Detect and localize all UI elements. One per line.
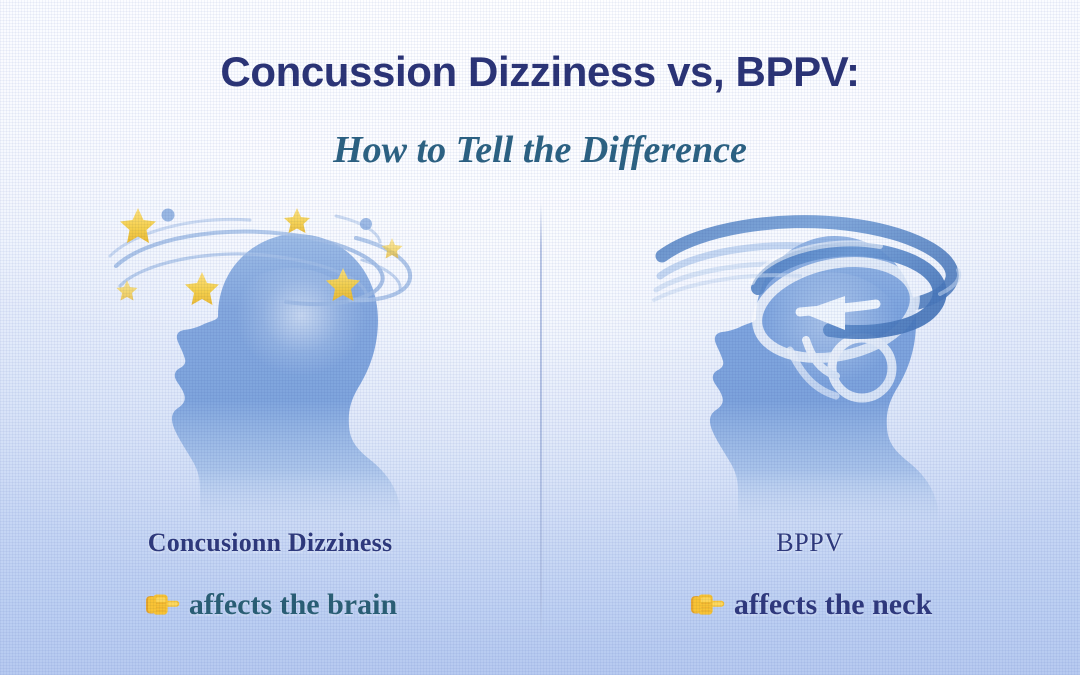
panel-left-callout: affects the brain — [0, 588, 540, 622]
panel-right-callout: affects the neck — [540, 588, 1080, 622]
head-silhouette-shape — [172, 234, 400, 520]
pointing-right-hand-icon — [143, 590, 181, 620]
panel-bppv: BPPV affects the neck — [540, 190, 1080, 675]
poster-canvas: Concussion Dizziness vs, BPPV: How to Te… — [0, 0, 1080, 675]
panel-left-label: Concusionn Dizziness — [0, 528, 540, 558]
panel-right-callout-text: affects the neck — [734, 588, 932, 621]
panel-concussion-dizziness: Concusionn Dizziness affects the brain — [0, 190, 540, 675]
panel-right-label: BPPV — [540, 528, 1080, 558]
concussion-head-illustration — [100, 190, 440, 520]
bppv-head-illustration — [640, 190, 980, 520]
swirl-dot-icon — [162, 209, 373, 231]
page-subtitle: How to Tell the Difference — [0, 128, 1080, 172]
page-title: Concussion Dizziness vs, BPPV: — [0, 48, 1080, 96]
vertical-divider — [540, 203, 542, 641]
panel-left-callout-text: affects the brain — [189, 588, 397, 621]
pointing-right-hand-icon — [688, 590, 726, 620]
